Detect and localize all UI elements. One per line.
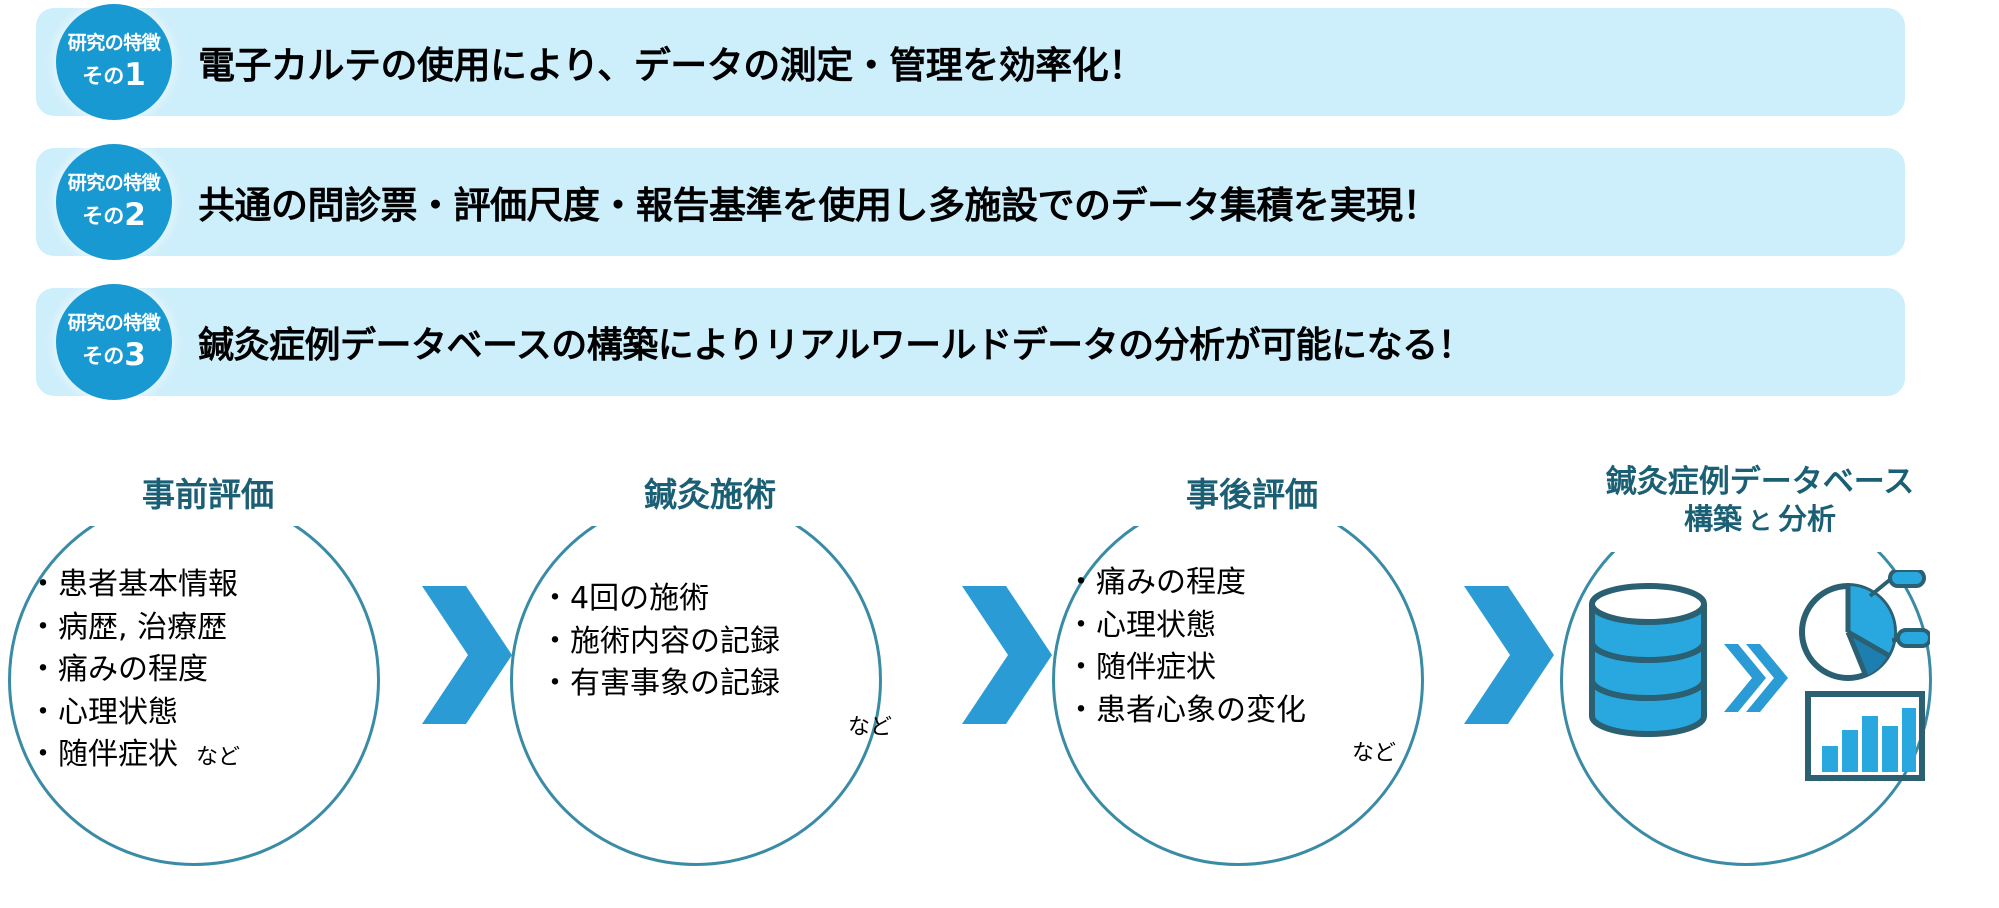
stage-title: 事前評価: [8, 468, 408, 516]
chevron-double-right-arrow-icon: [958, 580, 1054, 730]
etc-suffix: など: [540, 712, 910, 743]
feature-banner-2: 研究の特徴 その2 共通の問診票・評価尺度・報告基準を使用し多施設でのデータ集積…: [36, 148, 1905, 256]
chevron-double-right-icon: [1724, 644, 1788, 712]
pie-chart-icon: [1802, 570, 1930, 678]
list-item: ・痛みの程度: [1066, 562, 1436, 605]
badge-number: 2: [124, 197, 146, 233]
flow-arrow-3: [1460, 580, 1556, 730]
stage-title: 事後評価: [1052, 468, 1452, 516]
feature-badge-1: 研究の特徴 その1: [56, 4, 172, 120]
etc-suffix: など: [1066, 738, 1436, 769]
stage-bullet-list: ・痛みの程度 ・心理状態 ・随伴症状 ・患者心象の変化 など: [1066, 562, 1436, 770]
feature-badge-2: 研究の特徴 その2: [56, 144, 172, 260]
stage-bullet-list: ・患者基本情報 ・病歴, 治療歴 ・痛みの程度 ・心理状態 ・随伴症状など: [28, 564, 398, 777]
list-item: ・4回の施術: [540, 578, 910, 621]
list-item-text: ・随伴症状: [28, 737, 178, 772]
feature-banner-1: 研究の特徴 その1 電子カルテの使用により、データの測定・管理を効率化！: [36, 8, 1905, 116]
list-item: ・患者基本情報: [28, 564, 398, 607]
badge-label-top: 研究の特徴: [68, 174, 161, 193]
badge-label-top: 研究の特徴: [68, 34, 161, 53]
stage-title: 鍼灸症例データベース: [1536, 456, 1984, 501]
badge-label-bottom: その1: [82, 60, 146, 91]
flow-stage-database: 鍼灸症例データベース 構築と分析: [1560, 452, 1960, 852]
etc-suffix: など: [178, 745, 240, 770]
bar-chart-icon: [1808, 694, 1922, 778]
list-item: ・随伴症状など: [28, 734, 398, 777]
flow-arrow-1: [418, 580, 514, 730]
database-cylinder-icon: [1592, 586, 1704, 734]
list-item: ・病歴, 治療歴: [28, 607, 398, 650]
stage-subtitle-separator: と: [1742, 507, 1778, 535]
flow-stage-pre-assessment: 事前評価 ・患者基本情報 ・病歴, 治療歴 ・痛みの程度 ・心理状態 ・随伴症状…: [8, 452, 408, 852]
badge-sono-text: その: [82, 344, 124, 368]
stage-subtitle: 構築と分析: [1560, 496, 1960, 538]
list-item: ・随伴症状: [1066, 647, 1436, 690]
flow-stage-acupuncture-treatment: 鍼灸施術 ・4回の施術 ・施術内容の記録 ・有害事象の記録 など: [510, 452, 910, 852]
list-item: ・心理状態: [28, 692, 398, 735]
list-item: ・心理状態: [1066, 605, 1436, 648]
badge-label-top: 研究の特徴: [68, 314, 161, 333]
stage-subtitle-analysis: 分析: [1778, 502, 1836, 536]
feature-text-3: 鍼灸症例データベースの構築によりリアルワールドデータの分析が可能になる！: [198, 288, 1473, 396]
list-item: ・患者心象の変化: [1066, 690, 1436, 733]
flow-stage-post-assessment: 事後評価 ・痛みの程度 ・心理状態 ・随伴症状 ・患者心象の変化 など: [1052, 452, 1452, 852]
process-flow: 事前評価 ・患者基本情報 ・病歴, 治療歴 ・痛みの程度 ・心理状態 ・随伴症状…: [0, 452, 1999, 908]
icon-group-svg: [1570, 570, 1930, 790]
feature-badge-3: 研究の特徴 その3: [56, 284, 172, 400]
database-analysis-icon-group: [1570, 570, 1930, 790]
feature-banner-3: 研究の特徴 その3 鍼灸症例データベースの構築によりリアルワールドデータの分析が…: [36, 288, 1905, 396]
chevron-double-right-arrow-icon: [1460, 580, 1556, 730]
badge-label-bottom: その3: [82, 340, 146, 371]
feature-text-1: 電子カルテの使用により、データの測定・管理を効率化！: [198, 8, 1145, 116]
badge-number: 3: [124, 337, 146, 373]
badge-number: 1: [124, 57, 146, 93]
badge-sono-text: その: [82, 64, 124, 88]
stage-subtitle-build: 構築: [1684, 502, 1742, 536]
badge-sono-text: その: [82, 204, 124, 228]
list-item: ・施術内容の記録: [540, 621, 910, 664]
badge-label-bottom: その2: [82, 200, 146, 231]
flow-arrow-2: [958, 580, 1054, 730]
stage-title: 鍼灸施術: [510, 468, 910, 516]
list-item: ・痛みの程度: [28, 649, 398, 692]
list-item: ・有害事象の記録: [540, 663, 910, 706]
stage-bullet-list: ・4回の施術 ・施術内容の記録 ・有害事象の記録 など: [540, 578, 910, 743]
feature-text-2: 共通の問診票・評価尺度・報告基準を使用し多施設でのデータ集積を実現！: [198, 148, 1439, 256]
chevron-double-right-arrow-icon: [418, 580, 514, 730]
